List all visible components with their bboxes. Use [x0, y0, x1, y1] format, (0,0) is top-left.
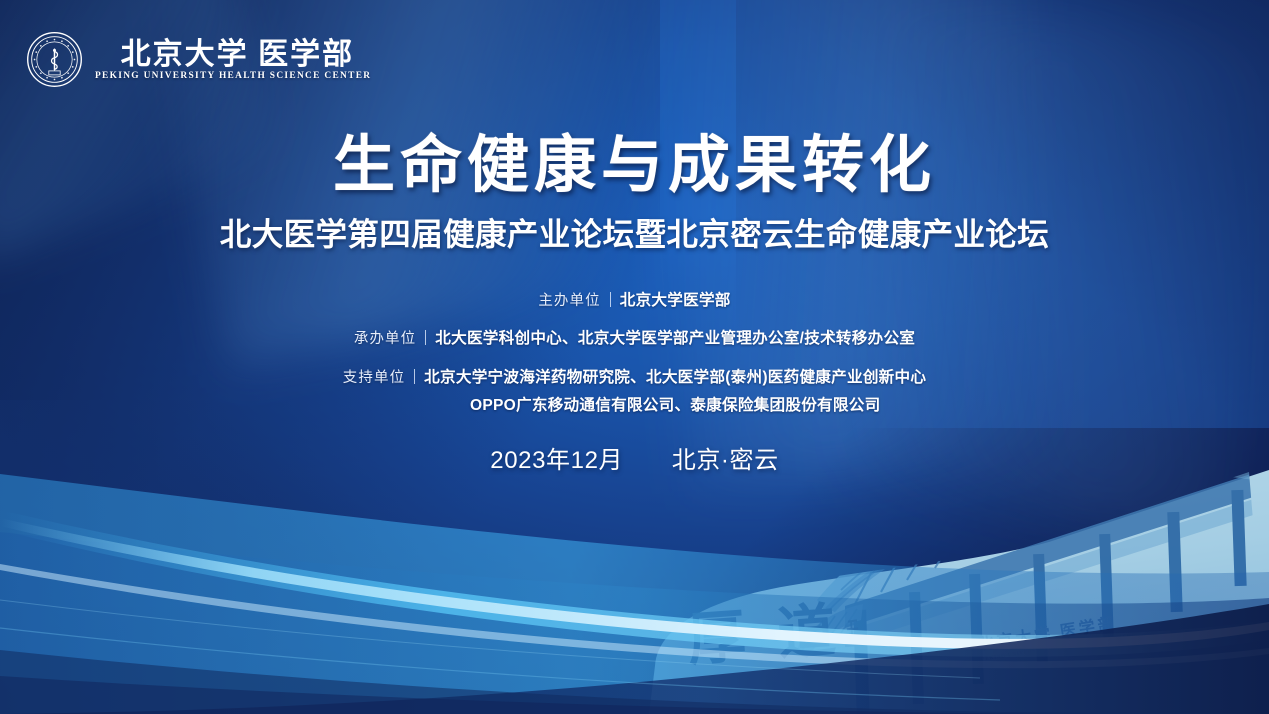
organizer-list: 主办单位 北京大学医学部 承办单位 北大医学科创中心、北京大学医学部产业管理办公… — [0, 290, 1269, 413]
banner-content: 生命健康与成果转化 北大医学第四届健康产业论坛暨北京密云生命健康产业论坛 主办单… — [0, 0, 1269, 473]
event-date-location: 2023年12月 北京·密云 — [0, 449, 1269, 473]
organizer-row-supporter: 支持单位 北京大学宁波海洋药物研究院、北大医学部(泰州)医药健康产业创新中心 O… — [343, 367, 926, 413]
event-date: 2023年12月 — [490, 447, 623, 474]
event-subtitle: 北大医学第四届健康产业论坛暨北京密云生命健康产业论坛 — [0, 216, 1269, 254]
event-location: 北京·密云 — [672, 447, 779, 474]
organizer-label-supporter: 支持单位 — [343, 371, 405, 386]
organizer-value-organizer: 北大医学科创中心、北京大学医学部产业管理办公室/技术转移办公室 — [435, 331, 915, 347]
event-title: 生命健康与成果转化 — [0, 0, 1269, 198]
organizer-label-host: 主办单位 — [538, 294, 600, 309]
organizer-row-organizer: 承办单位 北大医学科创中心、北京大学医学部产业管理办公室/技术转移办公室 — [354, 328, 915, 347]
organizer-separator — [425, 330, 426, 345]
organizer-value-host: 北京大学医学部 — [620, 293, 731, 309]
organizer-separator — [610, 292, 611, 307]
organizer-value-supporter-line2: OPPO广东移动通信有限公司、泰康保险集团股份有限公司 — [424, 398, 926, 414]
organizer-value-supporter-line1: 北京大学宁波海洋药物研究院、北大医学部(泰州)医药健康产业创新中心 — [424, 370, 926, 386]
organizer-label-organizer: 承办单位 — [354, 332, 416, 347]
organizer-row-host: 主办单位 北京大学医学部 — [538, 290, 730, 309]
event-banner: 北京大学 医学部 PEKING UNIVERSITY HEALTH SCIENC… — [0, 0, 1269, 714]
organizer-value-supporter-block: 北京大学宁波海洋药物研究院、北大医学部(泰州)医药健康产业创新中心 OPPO广东… — [424, 370, 926, 413]
organizer-separator — [414, 369, 415, 384]
